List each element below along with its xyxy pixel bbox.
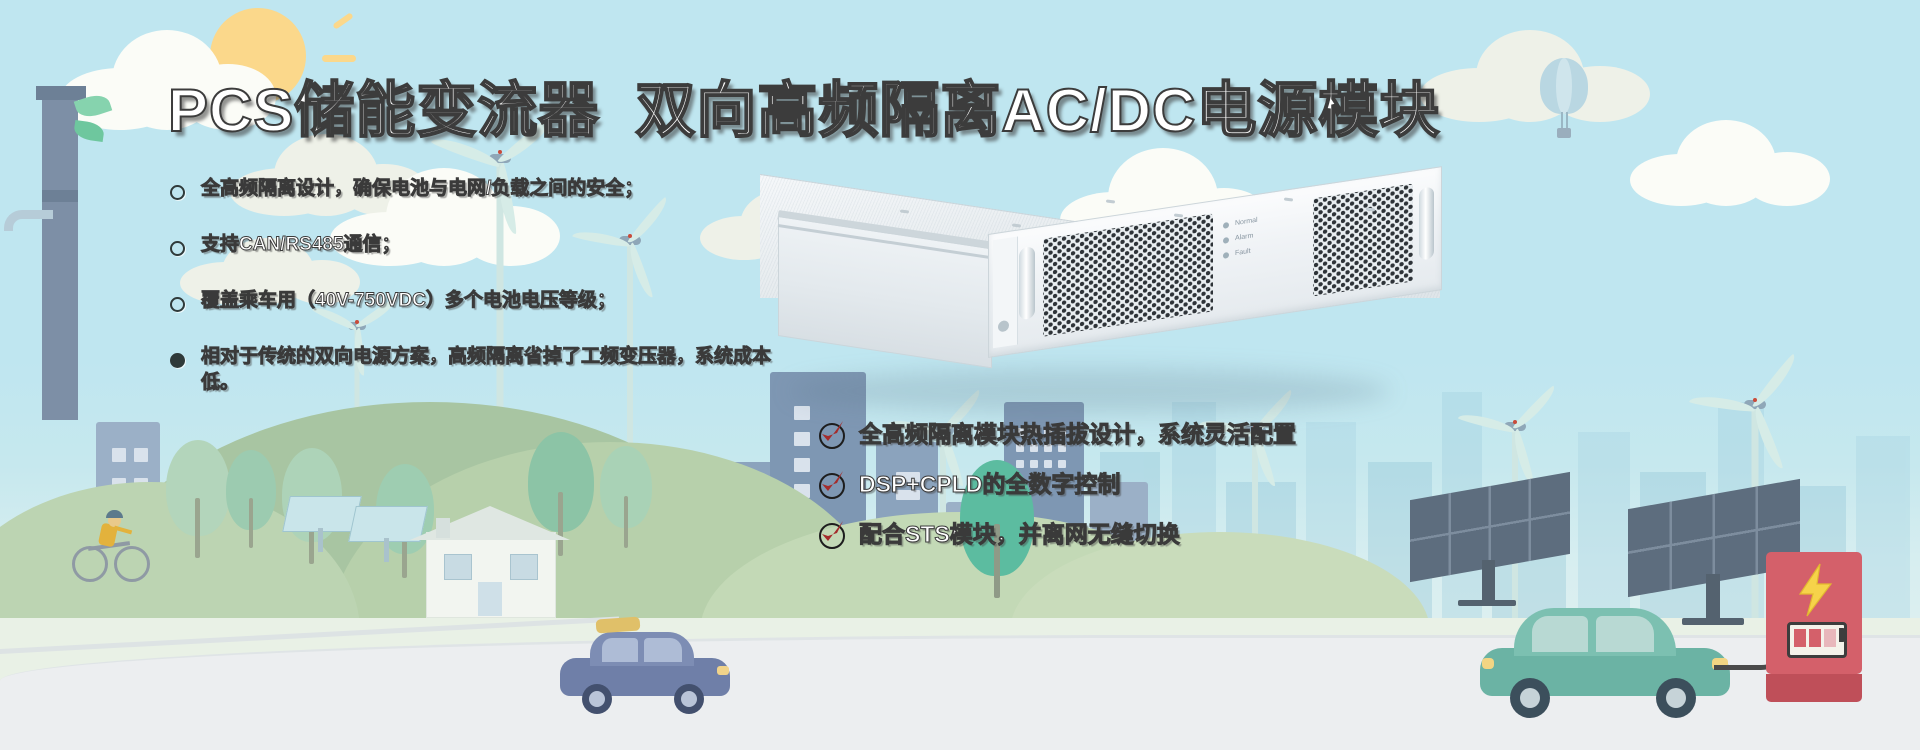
device-vent-grille-right [1313, 183, 1413, 296]
house [410, 498, 570, 618]
check-circle-icon [818, 520, 846, 548]
list-item: 覆盖乘车用（40V-750VDC）多个电池电压等级； [170, 288, 860, 314]
device-shadow [790, 368, 1390, 414]
bullet-dot-icon [170, 241, 185, 256]
bullet-dot-icon [170, 185, 185, 200]
bullet-dot-icon [170, 353, 185, 368]
led-indicator-normal [1223, 221, 1229, 228]
bicycle-rider [70, 508, 148, 582]
list-item: 支持CAN/RS485通信； [170, 232, 860, 258]
sun-ray [322, 55, 356, 62]
title-part-1: PCS储能变流器 [168, 77, 599, 144]
feature-text: 支持CAN/RS485通信； [201, 232, 401, 258]
highlight-text: 全高频隔离模块热插拔设计，系统灵活配置 [859, 420, 1296, 448]
list-item: 全高频隔离模块热插拔设计，系统灵活配置 [818, 420, 1538, 448]
battery-icon [1787, 622, 1847, 658]
device-handle-left [993, 237, 1018, 349]
solar-panel [286, 496, 356, 554]
led-label-alarm: Alarm [1235, 232, 1253, 242]
led-indicator-fault [1223, 251, 1229, 258]
check-circle-icon [818, 470, 846, 498]
device-handle-left-grip [1019, 246, 1035, 320]
chimney-cap [36, 86, 86, 100]
list-item: 相对于传统的双向电源方案，高频隔离省掉了工频变压器，系统成本低。 [170, 344, 790, 396]
feature-text: 覆盖乘车用（40V-750VDC）多个电池电压等级； [201, 288, 616, 314]
lightning-bolt-icon [1792, 562, 1838, 618]
led-label-normal: Normal [1235, 217, 1258, 227]
charging-station [1766, 552, 1862, 702]
chimney-pipe [4, 210, 53, 231]
highlight-list: 全高频隔离模块热插拔设计，系统灵活配置 DSP+CPLD的全数字控制 配合STS… [818, 420, 1538, 570]
led-indicator-alarm [1223, 236, 1229, 243]
car [560, 628, 730, 706]
feature-text: 全高频隔离设计，确保电池与电网/负载之间的安全； [201, 176, 643, 202]
bullet-dot-icon [170, 297, 185, 312]
cloud [1630, 120, 1830, 206]
device-led-panel: Normal Alarm Fault [1223, 210, 1305, 286]
highlight-text: 配合STS模块，并离网无缝切换 [859, 520, 1180, 548]
device-vent-grille-left [1043, 213, 1213, 336]
feature-text: 相对于传统的双向电源方案，高频隔离省掉了工频变压器，系统成本低。 [201, 344, 790, 396]
highlight-text: DSP+CPLD的全数字控制 [859, 470, 1120, 498]
banner-root: Normal Alarm Fault PC [0, 0, 1920, 750]
electric-car [1480, 602, 1730, 714]
pcs-chassis-device: Normal Alarm Fault [760, 168, 1440, 408]
feature-list: 全高频隔离设计，确保电池与电网/负载之间的安全； 支持CAN/RS485通信； … [170, 176, 860, 426]
tree [600, 446, 652, 550]
title-part-2: 双向高频隔离AC/DC电源模块 [635, 77, 1440, 144]
list-item: DSP+CPLD的全数字控制 [818, 470, 1538, 498]
tree [226, 450, 276, 550]
tree [166, 440, 230, 560]
led-label-fault: Fault [1235, 248, 1251, 257]
list-item: 全高频隔离设计，确保电池与电网/负载之间的安全； [170, 176, 860, 202]
check-circle-icon [818, 420, 846, 448]
list-item: 配合STS模块，并离网无缝切换 [818, 520, 1538, 548]
page-title: PCS储能变流器双向高频隔离AC/DC电源模块 [168, 62, 1440, 149]
hot-air-balloon [1534, 58, 1594, 154]
device-handle-right-grip [1419, 186, 1434, 260]
chimney-band [42, 190, 78, 202]
